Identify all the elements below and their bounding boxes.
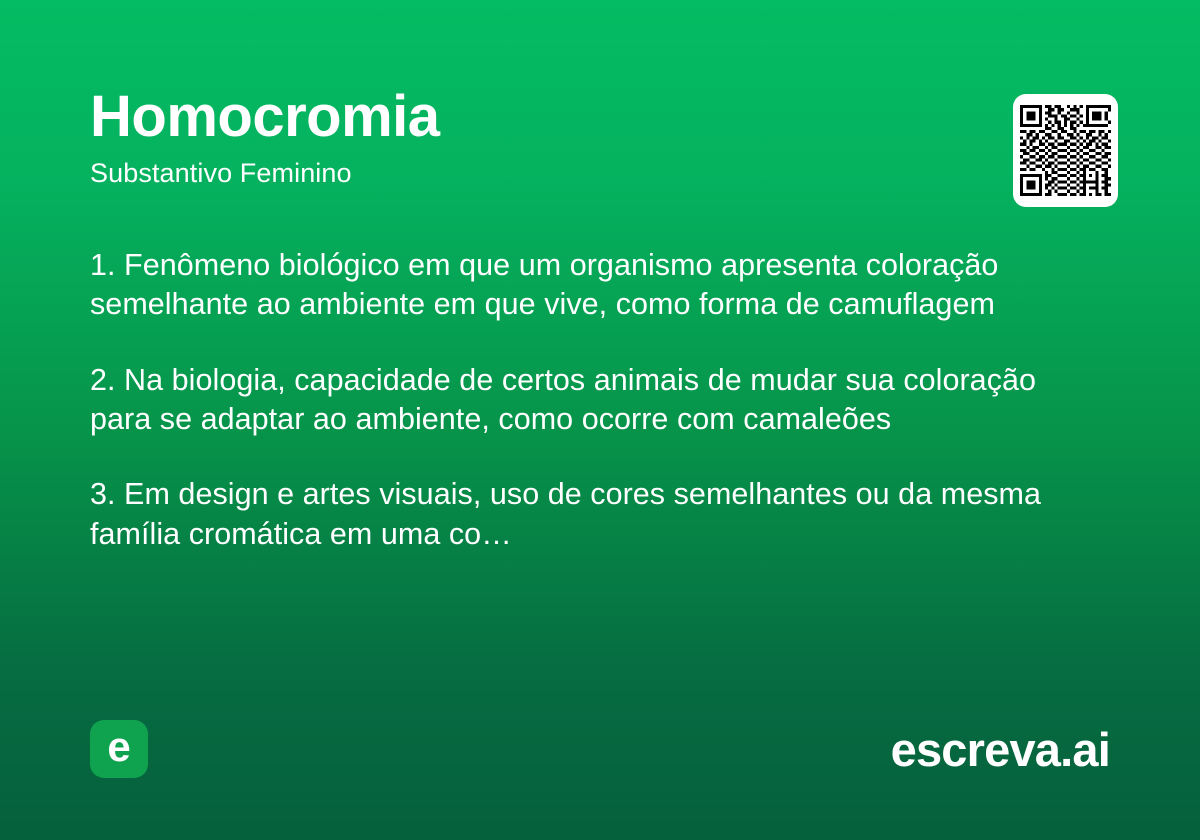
brand-name: escreva.ai xyxy=(891,726,1110,773)
page-title: Homocromia xyxy=(90,86,1110,149)
list-item: 2. Na biologia, capacidade de certos ani… xyxy=(90,361,1090,440)
brand-logo: e xyxy=(90,720,148,778)
qr-code[interactable] xyxy=(1013,94,1118,207)
brand-logo-letter: e xyxy=(107,726,130,768)
list-item: 3. Em design e artes visuais, uso de cor… xyxy=(90,475,1090,554)
dictionary-card: Homocromia Substantivo Feminino 1. Fenôm… xyxy=(0,0,1200,840)
qr-code-icon xyxy=(1020,105,1111,196)
list-item: 1. Fenômeno biológico em que um organism… xyxy=(90,246,1090,325)
card-header: Homocromia Substantivo Feminino xyxy=(90,86,1110,189)
card-footer: e escreva.ai xyxy=(90,720,1110,778)
part-of-speech-label: Substantivo Feminino xyxy=(90,157,1110,189)
definition-list: 1. Fenômeno biológico em que um organism… xyxy=(90,246,1090,554)
